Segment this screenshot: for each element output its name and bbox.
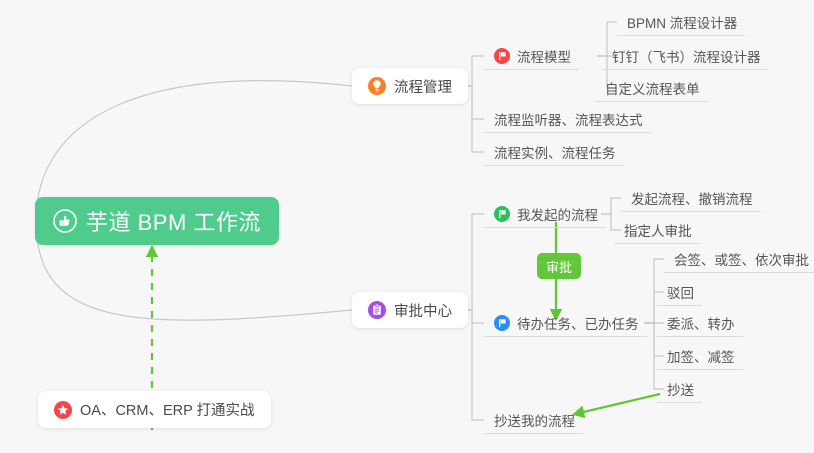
node-todo-done-tasks[interactable]: 待办任务、已办任务 (484, 309, 647, 337)
root-node[interactable]: 芋道 BPM 工作流 (35, 197, 279, 245)
node-label: 抄送 (667, 379, 694, 399)
annotation-label: 审批 (546, 257, 572, 276)
node-label: 我发起的流程 (517, 204, 598, 224)
flag-icon (494, 206, 510, 222)
note-integration[interactable]: OA、CRM、ERP 打通实战 (38, 391, 271, 428)
node-label: 驳回 (667, 282, 694, 302)
node-label: 自定义流程表单 (605, 78, 700, 98)
node-bpmn-designer[interactable]: BPMN 流程设计器 (617, 8, 745, 36)
node-cc-to-me-process[interactable]: 抄送我的流程 (484, 406, 583, 434)
thumbs-up-circle-icon (53, 209, 77, 233)
node-cc[interactable]: 抄送 (657, 375, 702, 403)
node-label: 流程模型 (517, 46, 571, 66)
branch-approval-center[interactable]: 审批中心 (352, 292, 468, 328)
node-label: 会签、或签、依次审批 (674, 249, 809, 269)
arrow-cc-to-ccme (575, 394, 660, 414)
flag-icon (494, 48, 510, 64)
node-label: 发起流程、撤销流程 (631, 188, 753, 208)
node-label: 流程监听器、流程表达式 (494, 109, 643, 129)
note-label: OA、CRM、ERP 打通实战 (80, 399, 255, 420)
branch-label: 审批中心 (394, 300, 452, 321)
wire-ac-to-ccme (462, 310, 484, 420)
node-process-instance-task[interactable]: 流程实例、流程任务 (484, 138, 624, 166)
node-process-listener-expression[interactable]: 流程监听器、流程表达式 (484, 105, 651, 133)
branch-process-management[interactable]: 流程管理 (352, 68, 468, 104)
root-label: 芋道 BPM 工作流 (86, 205, 261, 237)
node-label: 加签、减签 (667, 346, 735, 366)
node-countersign-or-sequential[interactable]: 会签、或签、依次审批 (664, 245, 814, 273)
node-label: 钉钉（飞书）流程设计器 (612, 46, 761, 66)
node-label: 待办任务、已办任务 (517, 313, 639, 333)
node-label: 委派、转办 (667, 313, 735, 333)
node-delegate-transfer[interactable]: 委派、转办 (657, 309, 743, 337)
node-reject[interactable]: 驳回 (657, 278, 702, 306)
node-label: 流程实例、流程任务 (494, 142, 616, 162)
clipboard-icon (368, 301, 386, 319)
annotation-approval-pill: 审批 (537, 253, 581, 279)
node-process-model[interactable]: 流程模型 (484, 42, 579, 70)
node-label: 抄送我的流程 (494, 410, 575, 430)
node-start-cancel-process[interactable]: 发起流程、撤销流程 (621, 184, 761, 212)
star-icon (54, 401, 72, 419)
flag-icon (494, 315, 510, 331)
node-custom-process-form[interactable]: 自定义流程表单 (595, 74, 708, 102)
branch-label: 流程管理 (394, 76, 452, 97)
node-add-remove-sign[interactable]: 加签、减签 (657, 342, 743, 370)
node-label: BPMN 流程设计器 (627, 12, 737, 32)
lightbulb-icon (368, 77, 386, 95)
node-my-initiated-process[interactable]: 我发起的流程 (484, 200, 606, 228)
node-label: 指定人审批 (624, 220, 692, 240)
mindmap-canvas: 芋道 BPM 工作流 流程管理 流程模型 BPMN 流程设计器 钉钉（飞书）流程… (0, 0, 814, 453)
node-assignee-approval[interactable]: 指定人审批 (614, 216, 700, 244)
node-dingtalk-feishu-designer[interactable]: 钉钉（飞书）流程设计器 (602, 42, 769, 70)
